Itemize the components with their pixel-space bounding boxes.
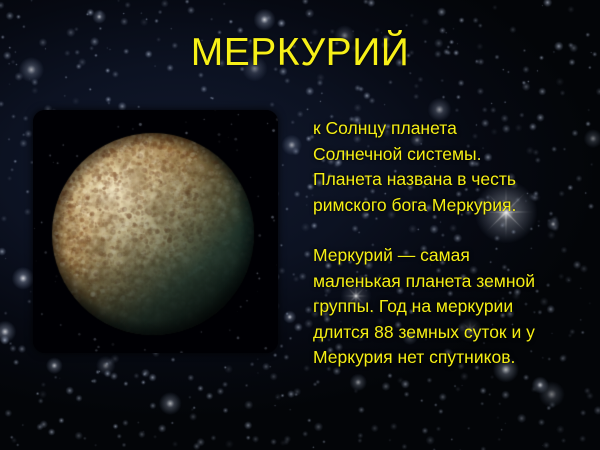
text-line: Планета названа в честь	[313, 167, 585, 193]
description-text: к Солнцу планета Солнечной системы. План…	[313, 116, 585, 371]
text-line: Солнечной системы.	[313, 142, 585, 168]
text-line: длится 88 земных суток и у	[313, 320, 585, 346]
paragraph-2: Меркурий — самая маленькая планета земно…	[313, 243, 585, 371]
text-line: Меркурий — самая	[313, 243, 585, 269]
text-line: маленькая планета земной	[313, 269, 585, 295]
mercury-planet-image	[33, 110, 278, 353]
text-line: Меркурия нет спутников.	[313, 345, 585, 371]
page-title: МЕРКУРИЙ	[0, 30, 600, 76]
paragraph-1: к Солнцу планета Солнечной системы. План…	[313, 116, 585, 218]
planet-image-panel	[33, 110, 278, 353]
slide-mercury: МЕРКУРИЙ к Солнцу планета Солнечной сист…	[0, 0, 600, 450]
text-line: римского бога Меркурия.	[313, 193, 585, 219]
text-line: к Солнцу планета	[313, 116, 585, 142]
text-line: группы. Год на меркурии	[313, 294, 585, 320]
